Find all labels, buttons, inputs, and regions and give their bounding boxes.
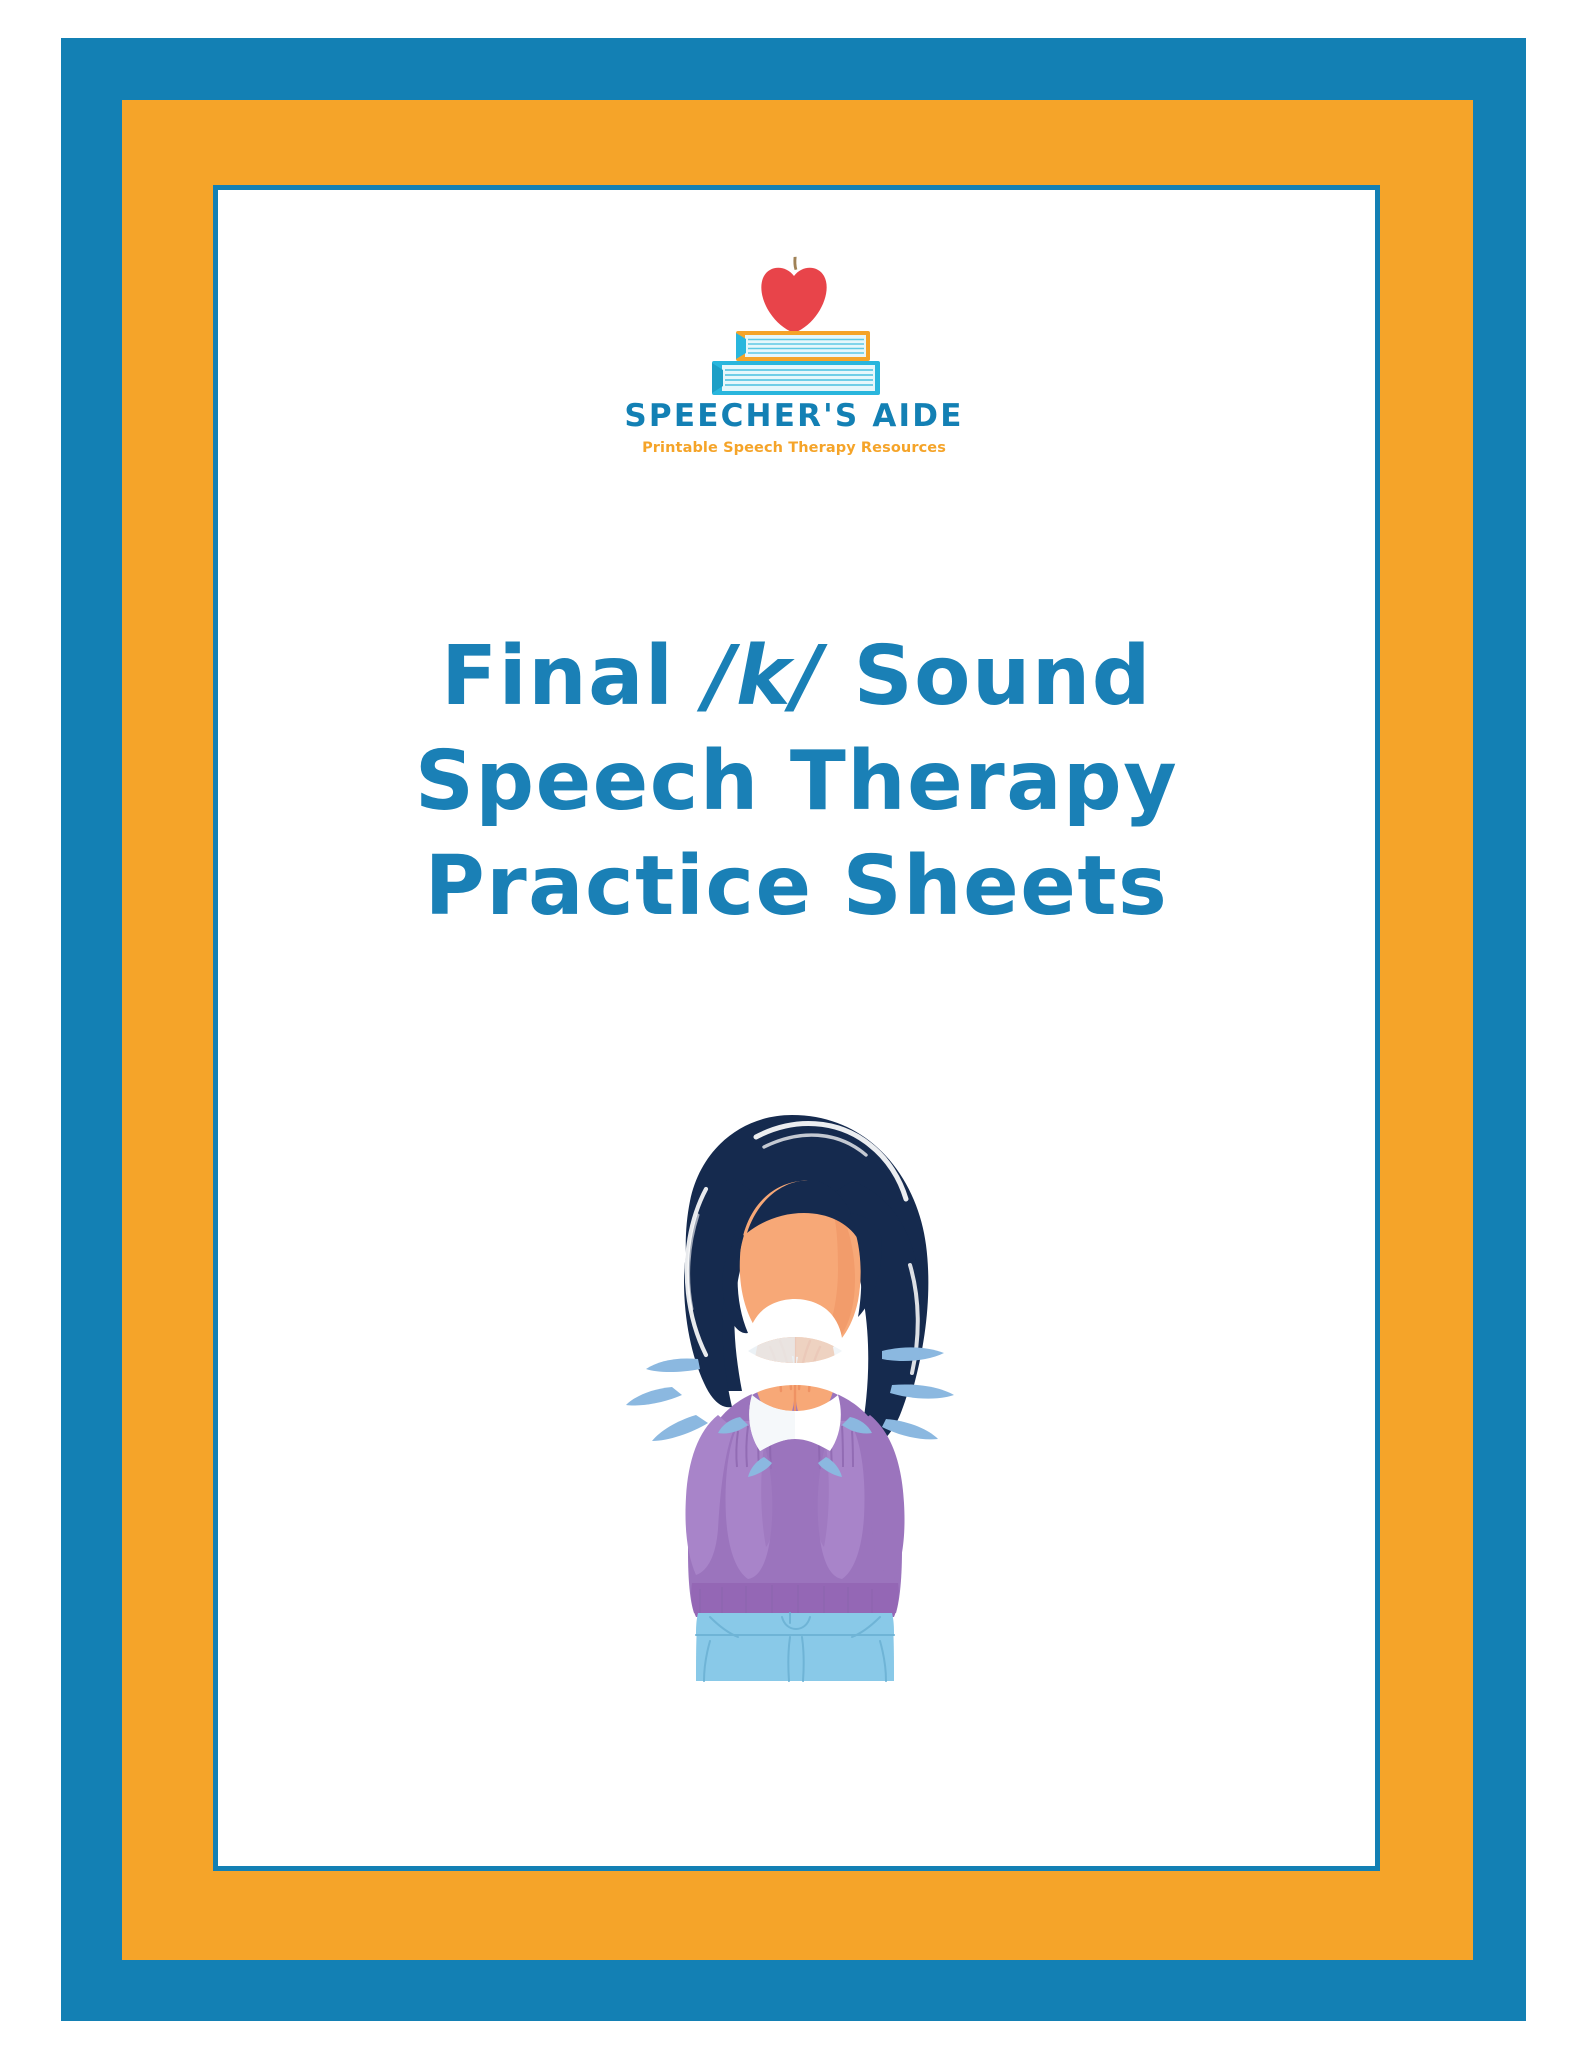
woman-sneezing-illustration xyxy=(614,1085,974,1685)
apple-on-books-logo-icon xyxy=(674,243,914,403)
logo-tagline: Printable Speech Therapy Resources xyxy=(614,441,974,456)
woman-sneezing-icon xyxy=(614,1085,974,1685)
title-line-3: Practice Sheets xyxy=(218,835,1375,940)
title-phoneme-k: /k/ xyxy=(705,629,824,724)
page-title: Final /k/ Sound Speech Therapy Practice … xyxy=(218,625,1375,940)
sneeze-motion-lines-left xyxy=(626,1358,708,1441)
worksheet-cover-page: SPEECHER'S AIDE Printable Speech Therapy… xyxy=(0,0,1588,2059)
title-line-1-pre: Final xyxy=(441,629,705,724)
title-line-2: Speech Therapy xyxy=(218,730,1375,835)
brand-logo: SPEECHER'S AIDE Printable Speech Therapy… xyxy=(614,243,974,456)
title-line-1-post: Sound xyxy=(824,629,1152,724)
title-line-1: Final /k/ Sound xyxy=(218,625,1375,730)
logo-wordmark: SPEECHER'S AIDE xyxy=(614,401,974,432)
